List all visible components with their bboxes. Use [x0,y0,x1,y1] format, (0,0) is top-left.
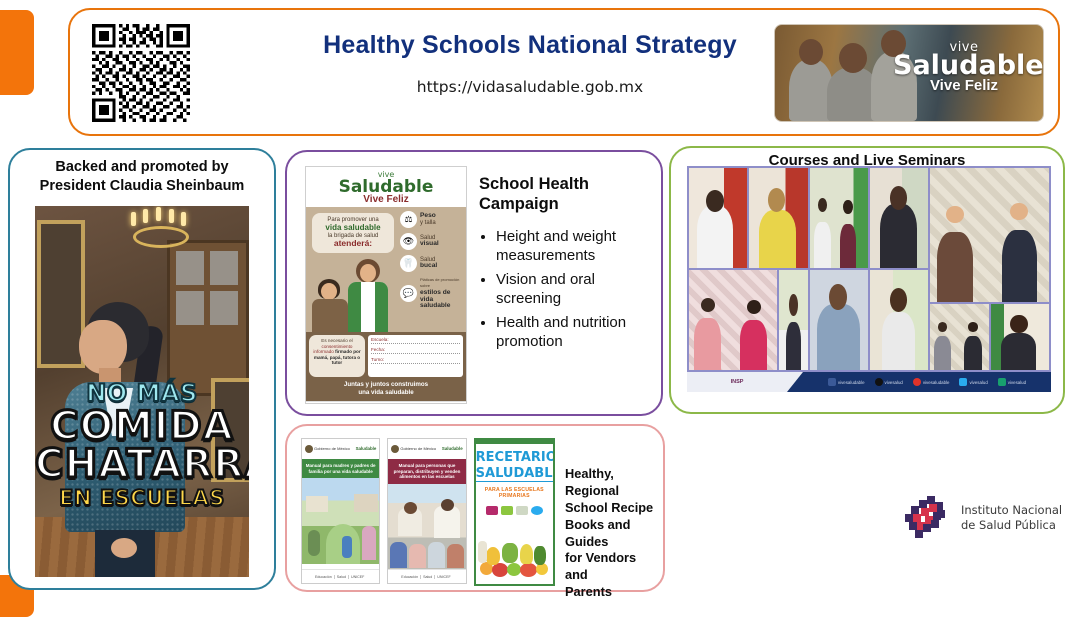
page-title: Healthy Schools National Strategy [220,32,840,60]
recipes-line5: Parents [565,584,659,601]
recipes-line2: School Recipe [565,500,659,517]
bk2-foot-2: Salud [423,575,435,579]
service-oral-l2: bucal [420,262,437,269]
header-text-block: Healthy Schools National Strategy https:… [220,32,840,96]
partner-logo-3 [516,506,528,515]
form-field-school: Escuela: [371,337,460,344]
insp-name-text: Instituto Nacional de Salud Pública [961,503,1062,533]
bk2-footer: Educación Salud UNICEF [388,569,465,583]
vive-saludable-banner: vive Saludable Vive Feliz [774,24,1044,122]
social-x-label: vivesalud [885,380,903,385]
form-field-shift: Turno: [371,357,460,364]
president-caption: Backed and promoted by President Claudia… [10,158,274,195]
bk2-illustration [388,484,465,570]
service-weight-l2: y talla [420,220,436,226]
social-telegram[interactable]: vivesalud [959,378,987,386]
overlay-text-line4: EN ESCUELAS [35,489,249,509]
bk3-subtitle: PARA LAS ESCUELAS PRIMARIAS [476,487,553,499]
bk1-gob-text: Gobierno de México [314,447,350,451]
poster-slogan: Juntas y juntos construimos una vida sal… [306,380,466,401]
social-links-bar: vivesaludable vivesalud vivesaludable vi… [787,372,1051,392]
poster-service-list: ⚖ Peso y talla 👁 Salud visual 🦷 Salud bu… [400,211,464,315]
boy-figure [310,279,350,332]
social-instagram-label: vivesalud [1008,380,1026,385]
video-thumb[interactable] [749,168,807,268]
poster-vivefeliz-text: Vive Feliz [306,195,466,205]
poster-logo: vive Saludable Vive Feliz [306,167,466,207]
service-item-talks: 💬 Pláticas de promoción sobre estilos de… [400,277,464,310]
consent-note: Es necesario el consentimiento informado… [309,335,365,377]
bk1-footer: Educación Salud UNICEF [302,569,379,583]
social-x[interactable]: vivesalud [875,378,903,386]
instagram-icon [998,378,1006,386]
book-cover-vendors[interactable]: Gobierno de México Saludable Manual para… [387,438,466,584]
bk1-foot-3: UNICEF [351,575,366,579]
service-item-oral: 🦷 Salud bucal [400,255,464,272]
recipes-line3: Books and Guides [565,517,659,551]
social-telegram-label: vivesalud [969,380,987,385]
service-weight-l1: Peso [420,212,436,219]
talk-icon: 💬 [400,285,417,302]
bk1-illustration [302,478,379,564]
poster-slogan-line2: una vida saludable [306,389,466,397]
campaign-poster-image[interactable]: vive Saludable Vive Feliz Para promover … [305,166,467,404]
video-thumb[interactable] [930,304,988,370]
campaign-text-block: School Health Campaign Height and weight… [479,174,653,357]
social-instagram[interactable]: vivesalud [998,378,1026,386]
poster-consent-row: Es necesario el consentimiento informado… [306,332,466,380]
partner-logo-4 [531,506,543,515]
campaign-bullet-2: Vision and oral screening [496,271,653,309]
poster-form: Escuela: Fecha: Turno: [368,335,463,377]
insp-name-line1: Instituto Nacional [961,503,1062,518]
insp-logo: Instituto Nacional de Salud Pública [905,492,1065,544]
poster-footer-logos: Gobierno de México Educación Salud IMSS … [306,401,466,405]
video-thumb[interactable] [689,168,747,268]
bk3-partner-logos [476,506,553,515]
scale-icon: ⚖ [400,211,417,228]
bk2-foot-3: UNICEF [437,575,452,579]
service-item-weight: ⚖ Peso y talla [400,211,464,228]
bk1-foot-1: Educación [315,575,335,579]
insp-name-line2: de Salud Pública [961,518,1062,533]
video-thumb[interactable] [991,304,1049,370]
site-url[interactable]: https://vidasaludable.gob.mx [220,78,840,96]
campaign-bullet-list: Height and weight measurements Vision an… [479,228,653,351]
partner-logo-1 [486,506,498,515]
courses-social-bar: INSP vivesaludable vivesalud vivesaludab… [687,372,1051,392]
form-field-date: Fecha: [371,347,460,354]
recipes-panel: Gobierno de México Saludable Manual para… [285,424,665,592]
president-video-thumbnail[interactable]: NO MÁS COMIDA CHATARRA EN ESCUELAS [35,206,249,577]
poster-slogan-line1: Juntas y juntos construimos [306,381,466,389]
facebook-icon [828,378,836,386]
video-thumb[interactable] [779,270,807,370]
tooth-icon: 🦷 [400,255,417,272]
telegram-icon [959,378,967,386]
campaign-heading: School Health Campaign [479,174,653,214]
eye-icon: 👁 [400,233,417,250]
bk3-fruit-illustration [476,533,553,579]
recipe-books-row: Gobierno de México Saludable Manual para… [301,438,555,582]
book-cover-parents[interactable]: Gobierno de México Saludable Manual para… [301,438,380,584]
social-youtube-label: vivesaludable [923,380,950,385]
video-thumb[interactable] [810,168,868,268]
poster-speech-bubble: Para promover una vida saludable la brig… [312,213,394,253]
video-thumb[interactable] [689,270,777,370]
gobierno-logo: Gobierno de México [305,445,350,453]
bubble-line4: atenderá: [316,239,390,249]
bk3-title-line2: SALUDABLE [476,468,555,481]
youtube-icon [913,378,921,386]
gobierno-logo: Gobierno de México [391,445,436,453]
president-panel: Backed and promoted by President Claudia… [8,148,276,590]
recipes-description: Healthy, Regional School Recipe Books an… [565,466,659,601]
bk3-title-line1: RECETARIO [476,452,553,464]
header-panel: Healthy Schools National Strategy https:… [68,8,1060,136]
bk1-title: Manual para madres y padres de familia p… [302,459,379,478]
video-thumb[interactable] [870,270,928,370]
video-thumb[interactable] [810,270,868,370]
bk2-brand: Saludable [442,447,463,451]
qr-code-icon[interactable] [92,24,190,122]
service-talks-l2: estilos de vida saludable [420,289,450,310]
overlay-text-line1: NO MÁS [35,382,249,405]
courses-title: Courses and Live Seminars [671,152,1063,169]
president-caption-line2: President Claudia Sheinbaum [10,177,274,196]
poster-saludable-text: Saludable [306,179,466,195]
recipes-line4: for Vendors and [565,550,659,584]
brand-saludable-text: Saludable [893,52,1035,79]
social-youtube[interactable]: vivesaludable [913,378,950,386]
campaign-panel: vive Saludable Vive Feliz Para promover … [285,150,663,416]
poster-illustration: Para promover una vida saludable la brig… [306,207,466,332]
consent-line1: Es necesario el [321,338,352,343]
bk2-foot-1: Educación [401,575,421,579]
decorative-tab-top [0,10,34,95]
bk1-brand: Saludable [356,447,377,451]
insp-mark-icon [905,496,953,540]
service-item-vision: 👁 Salud visual [400,233,464,250]
campaign-bullet-1: Height and weight measurements [496,228,653,266]
recipes-line1: Healthy, Regional [565,466,659,500]
president-caption-line1: Backed and promoted by [10,158,274,177]
service-talks-l1: Pláticas de promoción sobre [420,277,459,288]
x-icon [875,378,883,386]
campaign-bullet-3: Health and nutrition promotion [496,314,653,352]
insp-small-logo: INSP [687,379,787,385]
bubble-line2: vida saludable [316,224,390,233]
partner-logo-2 [501,506,513,515]
bk2-gob-text: Gobierno de México [400,447,436,451]
brand-logo: vive Saludable Vive Feliz [893,41,1035,93]
bk2-title: Manual para personas que preparan, distr… [388,459,465,484]
social-facebook-label: vivesaludable [838,380,865,385]
social-facebook[interactable]: vivesaludable [828,378,865,386]
courses-panel: Courses and Live Seminars [669,146,1065,414]
bk1-foot-2: Salud [337,575,349,579]
video-thumb[interactable] [930,168,1049,302]
overlay-text-line2: COMIDA [35,408,249,445]
video-thumb[interactable] [870,168,928,268]
chandelier-decor [127,212,189,256]
courses-video-grid[interactable] [687,166,1051,372]
book-cover-recetario[interactable]: RECETARIO SALUDABLE PARA LAS ESCUELAS PR… [474,438,555,586]
overlay-text-line3: CHATARRA [35,446,249,483]
service-vision-l2: visual [420,240,439,247]
